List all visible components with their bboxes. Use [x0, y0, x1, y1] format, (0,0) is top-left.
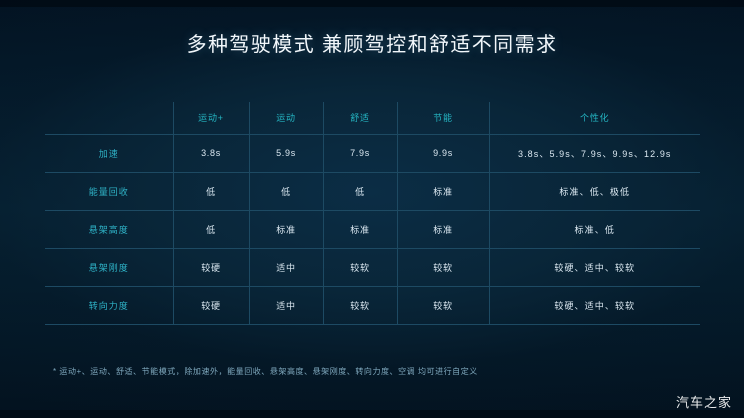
cell-energy-recovery-sport-plus: 低	[173, 172, 249, 210]
cell-suspension-stiffness-comfort: 较软	[323, 248, 397, 286]
table-row: 转向力度 较硬 适中 较软 较软 较硬、适中、较软	[45, 286, 700, 324]
presentation-slide: 多种驾驶模式 兼顾驾控和舒适不同需求 运动+ 运动 舒适 节能 个性化 加速	[0, 0, 744, 418]
cell-steering-weight-comfort: 较软	[323, 286, 397, 324]
table-row: 悬架刚度 较硬 适中 较软 较软 较硬、适中、较软	[45, 248, 700, 286]
column-header-sport-plus: 运动+	[173, 102, 249, 134]
row-label-steering-weight: 转向力度	[45, 286, 173, 324]
watermark-logo: 汽车之家	[676, 392, 732, 411]
table-row: 悬架高度 低 标准 标准 标准 标准、低	[45, 210, 700, 248]
cell-energy-recovery-custom: 标准、低、极低	[489, 172, 700, 210]
cell-steering-weight-custom: 较硬、适中、较软	[489, 286, 700, 324]
cell-suspension-stiffness-custom: 较硬、适中、较软	[489, 248, 700, 286]
row-label-energy-recovery: 能量回收	[45, 172, 173, 210]
cell-suspension-stiffness-sport-plus: 较硬	[173, 248, 249, 286]
footnote: * 运动+、运动、舒适、节能模式，除加速外，能量回收、悬架高度、悬架刚度、转向力…	[53, 366, 478, 377]
cell-steering-weight-eco: 较软	[397, 286, 489, 324]
cell-acceleration-custom: 3.8s、5.9s、7.9s、9.9s、12.9s	[489, 134, 700, 172]
driving-modes-table-container: 运动+ 运动 舒适 节能 个性化 加速 3.8s 5.9s 7.9s 9.9s …	[45, 102, 700, 325]
column-header-sport: 运动	[249, 102, 323, 134]
column-header-custom: 个性化	[489, 102, 700, 134]
cell-suspension-stiffness-sport: 适中	[249, 248, 323, 286]
cell-acceleration-comfort: 7.9s	[323, 134, 397, 172]
column-header-comfort: 舒适	[323, 102, 397, 134]
row-label-acceleration: 加速	[45, 134, 173, 172]
row-label-suspension-height: 悬架高度	[45, 210, 173, 248]
cell-suspension-height-comfort: 标准	[323, 210, 397, 248]
table-header-row: 运动+ 运动 舒适 节能 个性化	[45, 102, 700, 134]
cell-energy-recovery-sport: 低	[249, 172, 323, 210]
cell-acceleration-eco: 9.9s	[397, 134, 489, 172]
driving-modes-table: 运动+ 运动 舒适 节能 个性化 加速 3.8s 5.9s 7.9s 9.9s …	[45, 102, 700, 325]
table-corner-cell	[45, 102, 173, 134]
cell-suspension-height-sport: 标准	[249, 210, 323, 248]
cell-acceleration-sport-plus: 3.8s	[173, 134, 249, 172]
cell-energy-recovery-eco: 标准	[397, 172, 489, 210]
cell-suspension-height-custom: 标准、低	[489, 210, 700, 248]
table-row: 加速 3.8s 5.9s 7.9s 9.9s 3.8s、5.9s、7.9s、9.…	[45, 134, 700, 172]
cell-energy-recovery-comfort: 低	[323, 172, 397, 210]
page-title: 多种驾驶模式 兼顾驾控和舒适不同需求	[0, 28, 744, 57]
cell-suspension-stiffness-eco: 较软	[397, 248, 489, 286]
cell-acceleration-sport: 5.9s	[249, 134, 323, 172]
cell-steering-weight-sport: 适中	[249, 286, 323, 324]
cell-suspension-height-eco: 标准	[397, 210, 489, 248]
column-header-eco: 节能	[397, 102, 489, 134]
table-row: 能量回收 低 低 低 标准 标准、低、极低	[45, 172, 700, 210]
row-label-suspension-stiffness: 悬架刚度	[45, 248, 173, 286]
cell-steering-weight-sport-plus: 较硬	[173, 286, 249, 324]
cell-suspension-height-sport-plus: 低	[173, 210, 249, 248]
